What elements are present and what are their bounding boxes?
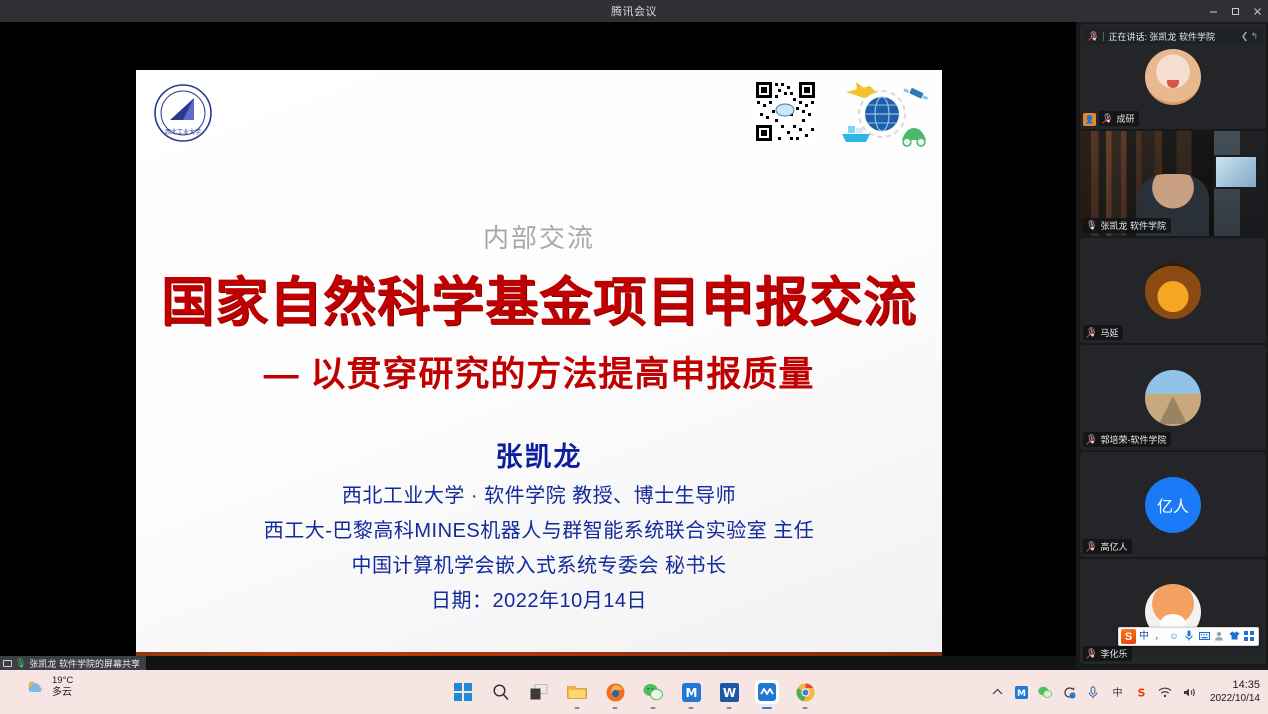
participant-name: 马延 (1100, 326, 1118, 339)
shared-screen-stage[interactable]: 西北工业大学 (0, 22, 1076, 670)
network-tray-icon[interactable] (1158, 685, 1173, 700)
running-indicator (689, 707, 694, 709)
participant-tile[interactable]: 🎙 张凯龙 软件学院 (1080, 131, 1266, 236)
participant-name-badge: 🎙 郭培荣-软件学院 (1083, 432, 1171, 447)
participant-name: 张凯龙 软件学院 (1100, 219, 1166, 232)
close-button[interactable] (1246, 0, 1268, 22)
mail-app[interactable]: M (679, 680, 703, 704)
sync-tray-icon[interactable] (1062, 685, 1077, 700)
participant-name: 郭培荣-软件学院 (1100, 433, 1166, 446)
active-speaker-text: 正在讲话: 张凯龙 软件学院 (1108, 30, 1215, 43)
chevron-icon[interactable]: ❮ (1241, 31, 1249, 42)
task-view-button[interactable] (527, 680, 551, 704)
tencent-meeting-icon[interactable] (755, 680, 779, 704)
participant-tile[interactable]: 🎙 马延 (1080, 238, 1266, 343)
word[interactable]: W (717, 680, 741, 704)
svg-text:W: W (722, 686, 735, 700)
weather-text: 19°C 多云 (52, 676, 73, 698)
running-indicator (651, 707, 656, 709)
emoji-icon[interactable]: ☺ (1167, 632, 1181, 641)
screen-share-label: 张凯龙 软件学院的屏幕共享 (29, 657, 140, 670)
slide-speaker-name: 张凯龙 (136, 435, 942, 474)
screen-share-chip: 🎙 张凯龙 软件学院的屏幕共享 (0, 656, 146, 670)
svg-text:M: M (685, 686, 697, 700)
svg-text:S: S (1137, 686, 1145, 699)
search-button[interactable] (489, 680, 513, 704)
host-badge: 👤 (1083, 113, 1096, 126)
active-speaker-banner[interactable]: 🎙 正在讲话: 张凯龙 软件学院 ❮ ↰ (1084, 28, 1262, 44)
start-button[interactable] (451, 680, 475, 704)
punctuation-toggle[interactable]: ， (1152, 632, 1166, 641)
windows-taskbar[interactable]: 19°C 多云 (0, 670, 1268, 714)
avatar-initials: 亿人 (1157, 493, 1189, 517)
mic-muted-icon: 🎙 (1086, 435, 1097, 444)
weather-description: 多云 (52, 687, 73, 699)
sogou-logo-icon[interactable]: S (1121, 629, 1136, 644)
skin-icon[interactable] (1227, 631, 1241, 642)
clock-date: 2022/10/14 (1210, 693, 1260, 705)
participant-tile[interactable]: 亿人 🎙 高亿人 (1080, 452, 1266, 557)
svg-text:中: 中 (1112, 686, 1122, 699)
ime-language-mode[interactable]: 中 (1137, 632, 1151, 642)
running-indicator (575, 707, 580, 709)
weather-widget[interactable]: 19°C 多云 (26, 676, 73, 698)
participant-rail[interactable]: 🎙 正在讲话: 张凯龙 软件学院 ❮ ↰ 👤 🎙 成研 🎙 张凯龙 软件学院 (1076, 22, 1268, 670)
monitor-icon (3, 660, 12, 667)
weather-temperature: 19°C (52, 676, 73, 687)
participant-tile[interactable]: 🎙 李化乐 (1080, 559, 1266, 664)
participant-tile[interactable]: 🎙 正在讲话: 张凯龙 软件学院 ❮ ↰ 👤 🎙 成研 (1080, 24, 1266, 129)
participant-name-badge: 🎙 高亿人 (1083, 539, 1132, 554)
slide-affiliation-1: 西北工业大学 · 软件学院 教授、博士生导师 (136, 479, 942, 508)
participant-name: 高亿人 (1100, 540, 1127, 553)
sogou-ime-toolbar[interactable]: S 中 ， ☺ (1118, 627, 1259, 646)
mic-muted-icon: 🎙 (1088, 32, 1099, 41)
tencent-meeting-window: 腾讯会议 西北工业大学 (0, 0, 1268, 714)
partly-cloudy-icon (26, 680, 46, 694)
slide-subtitle: — 以贯穿研究的方法提高申报质量 (136, 346, 942, 397)
initials-avatar: 亿人 (1145, 477, 1201, 533)
slide-affiliation-3: 中国计算机学会嵌入式系统专委会 秘书长 (136, 549, 942, 578)
mic-muted-icon: 🎙 (1086, 328, 1097, 337)
slide-affiliation-2: 西工大-巴黎高科MINES机器人与群智能系统联合实验室 主任 (136, 514, 942, 543)
volume-tray-icon[interactable] (1182, 685, 1197, 700)
running-indicator (727, 707, 732, 709)
arrow-icon[interactable]: ↰ (1250, 31, 1258, 42)
chrome[interactable] (793, 680, 817, 704)
m-app-tray-icon[interactable]: M (1014, 685, 1029, 700)
file-explorer[interactable] (565, 680, 589, 704)
lab-globe-logo (830, 76, 934, 150)
user-icon[interactable] (1212, 631, 1226, 643)
presentation-slide: 西北工业大学 (136, 70, 942, 677)
cat-photo-avatar (1145, 49, 1201, 105)
slide-date: 日期：2022年10月14日 (136, 584, 942, 613)
slide-title: 国家自然科学基金项目申报交流 (136, 260, 942, 336)
clock-time: 14:35 (1210, 679, 1260, 692)
participant-name-badge: 🎙 成研 (1099, 111, 1139, 126)
participant-name-badge: 🎙 马延 (1083, 325, 1123, 340)
mic-muted-icon: 🎙 (1086, 542, 1097, 551)
toolbox-icon[interactable] (1242, 631, 1256, 643)
mic-muted-icon: 🎙 (1102, 114, 1113, 123)
running-indicator (613, 707, 618, 709)
soft-keyboard-icon[interactable] (1197, 632, 1211, 642)
sogou-tray-icon[interactable]: S (1134, 685, 1149, 700)
mic-icon: 🎙 (15, 659, 26, 668)
maximize-button[interactable] (1224, 0, 1246, 22)
participant-name-badge: 🎙 张凯龙 软件学院 (1083, 218, 1171, 233)
participant-name: 成研 (1116, 112, 1134, 125)
minimize-button[interactable] (1202, 0, 1224, 22)
window-controls (1202, 0, 1268, 22)
running-indicator (803, 707, 808, 709)
qr-code (754, 80, 817, 143)
title-bar: 腾讯会议 (0, 0, 1268, 22)
participant-name: 李化乐 (1100, 647, 1127, 660)
nwpu-university-logo: 西北工业大学 (148, 82, 218, 148)
monitor-in-video (1214, 155, 1258, 189)
mic-icon: 🎙 (1086, 220, 1097, 231)
fire-photo-avatar (1145, 263, 1201, 319)
microphone-tray-icon[interactable] (1086, 685, 1101, 700)
wechat-tray-icon[interactable] (1038, 685, 1053, 700)
voice-input-icon[interactable] (1182, 630, 1196, 643)
svg-text:西北工业大学: 西北工业大学 (165, 128, 201, 136)
participant-name-badge: 🎙 李化乐 (1083, 646, 1132, 661)
system-tray[interactable]: M 中 S 14:35 (990, 670, 1260, 714)
mic-muted-icon: 🎙 (1086, 649, 1097, 658)
speaker-banner-controls[interactable]: ❮ ↰ (1241, 31, 1258, 42)
taskbar-app-icons[interactable]: M W (451, 670, 817, 714)
ime-tray-icon[interactable]: 中 (1110, 685, 1125, 700)
participant-tile[interactable]: 🎙 郭培荣-软件学院 (1080, 345, 1266, 450)
running-indicator (762, 707, 772, 709)
show-hidden-icons[interactable] (990, 685, 1005, 700)
divider (1103, 32, 1104, 41)
wechat[interactable] (641, 680, 665, 704)
screen-share-status-bar: 🎙 张凯龙 软件学院的屏幕共享 (0, 656, 1076, 670)
railway-photo-avatar (1145, 370, 1201, 426)
firefox[interactable] (603, 680, 627, 704)
window-title: 腾讯会议 (611, 3, 657, 19)
svg-text:M: M (1017, 689, 1026, 699)
taskbar-clock[interactable]: 14:35 2022/10/14 (1210, 679, 1260, 704)
slide-kicker: 内部交流 (136, 218, 942, 255)
